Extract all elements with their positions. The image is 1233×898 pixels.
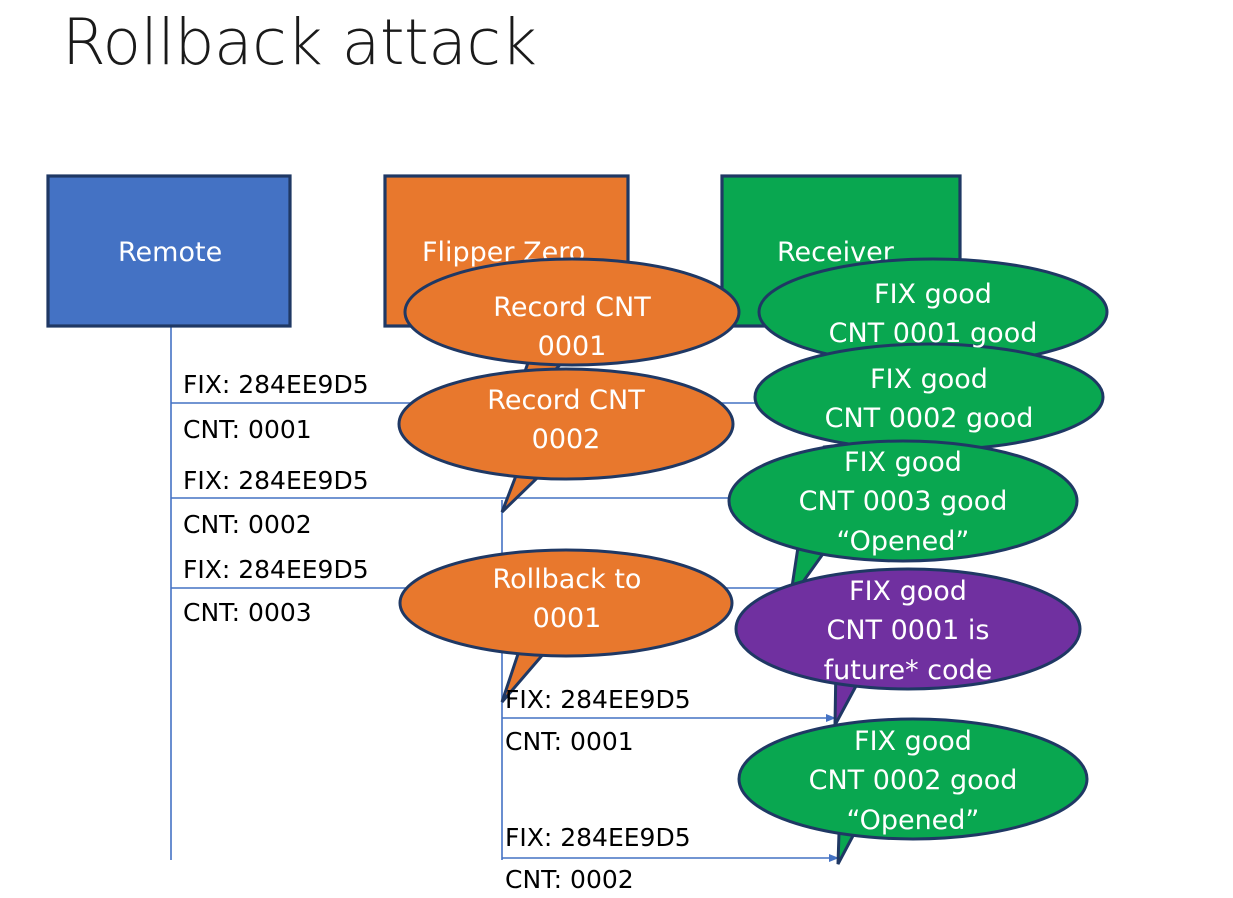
message-label-cnt-4: CNT: 0001: [505, 729, 634, 754]
message-label-fix-3: FIX: 284EE9D5: [183, 557, 369, 582]
message-label-cnt-1: CNT: 0001: [183, 417, 312, 442]
message-label-cnt-3: CNT: 0003: [183, 600, 312, 625]
slide-canvas: Rollback attack Remote Flipper Zero Rece…: [0, 0, 1233, 898]
message-label-fix-2: FIX: 284EE9D5: [183, 468, 369, 493]
callout-record-cnt-0002[interactable]: [399, 369, 733, 512]
message-label-fix-4: FIX: 284EE9D5: [505, 687, 691, 712]
callout-fix-good-cnt-0001-future[interactable]: [736, 569, 1080, 725]
message-label-cnt-2: CNT: 0002: [183, 512, 312, 537]
callout-rollback-to-0001[interactable]: [400, 550, 732, 702]
message-label-fix-1: FIX: 284EE9D5: [183, 372, 369, 397]
message-label-fix-5: FIX: 284EE9D5: [505, 825, 691, 850]
callout-fix-good-cnt-0002-opened[interactable]: [739, 719, 1087, 864]
callout-bubbles-layer: [0, 0, 1233, 898]
message-label-cnt-5: CNT: 0002: [505, 867, 634, 892]
